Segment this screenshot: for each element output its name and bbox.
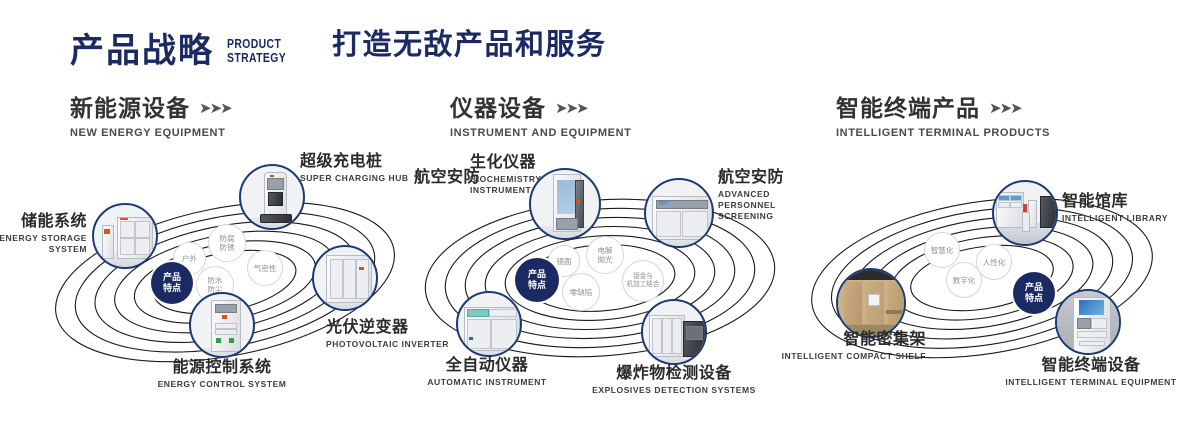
node-label-explosives-detection-systems: 爆炸物检测设备 EXPLOSIVES DETECTION SYSTEMS bbox=[588, 364, 760, 396]
node-label-super-charging-hub: 超级充电桩 SUPER CHARGING HUB bbox=[300, 152, 409, 184]
node-label-biochemistry-instrument: 生化仪器 BIOCHEMISTRY INSTRUMENT bbox=[470, 153, 554, 196]
node-label-cn: 航空安防 bbox=[400, 168, 480, 187]
node-label-cn: 储能系统 bbox=[0, 212, 87, 231]
compact-shelf-icon bbox=[838, 270, 904, 336]
core-line1: 产品 bbox=[163, 272, 181, 283]
section-title-new-energy: 新能源设备 ➤➤➤ NEW ENERGY EQUIPMENT bbox=[70, 97, 231, 139]
node-label-en: ENERGY STORAGE SYSTEM bbox=[0, 233, 87, 255]
core-bubble-product-features: 产品 特点 bbox=[515, 258, 559, 302]
section-title-cn: 仪器设备 ➤➤➤ bbox=[450, 97, 631, 120]
section-title-en: INSTRUMENT AND EQUIPMENT bbox=[450, 127, 631, 139]
node-intelligent-terminal-equipment[interactable] bbox=[1055, 289, 1121, 355]
node-label-en: INTELLIGENT COMPACT SHELF bbox=[780, 351, 926, 362]
diagram-new-energy: 户外 防腐 防锈 防水 防尘 气密性 产品 特点 储能系统 ENERGY STO… bbox=[30, 150, 420, 415]
feature-bubble: 零缺陷 bbox=[562, 273, 600, 311]
node-label-intelligent-compact-shelf: 智能密集架 INTELLIGENT COMPACT SHELF bbox=[780, 330, 926, 362]
chevron-right-icon: ➤➤➤ bbox=[199, 101, 231, 116]
section-title-cn: 智能终端产品 ➤➤➤ bbox=[836, 97, 1050, 120]
feature-bubble: 气密性 bbox=[247, 250, 283, 286]
node-label-cn: 航空安防 bbox=[718, 168, 804, 187]
section-title-intelligent-terminal: 智能终端产品 ➤➤➤ INTELLIGENT TERMINAL PRODUCTS bbox=[836, 97, 1050, 139]
core-line2: 特点 bbox=[163, 283, 181, 294]
energy-storage-cabinet-icon bbox=[94, 205, 156, 267]
page-title-en-line2: STRATEGY bbox=[227, 51, 286, 65]
node-intelligent-library[interactable] bbox=[992, 180, 1058, 246]
node-label-en: BIOCHEMISTRY INSTRUMENT bbox=[470, 174, 554, 196]
node-label-en: INTELLIGENT LIBRARY bbox=[1062, 213, 1168, 224]
node-label-automatic-instrument: 全自动仪器 AUTOMATIC INSTRUMENT bbox=[404, 356, 570, 388]
section-title-cn-text: 新能源设备 bbox=[70, 97, 190, 120]
core-bubble-product-features: 产品 特点 bbox=[1013, 272, 1055, 314]
screening-machine-icon bbox=[646, 180, 712, 246]
node-label-aviation-security: 航空安防 bbox=[400, 168, 480, 187]
node-label-en: AUTOMATIC INSTRUMENT bbox=[404, 377, 570, 388]
node-label-cn: 生化仪器 bbox=[470, 153, 554, 172]
section-title-cn-text: 仪器设备 bbox=[450, 97, 546, 120]
feature-bubble: 智慧化 bbox=[924, 232, 960, 268]
page-subtitle: 打造无敌产品和服务 bbox=[332, 31, 607, 60]
inverter-cabinet-icon bbox=[314, 247, 376, 309]
chevron-right-icon: ➤➤➤ bbox=[555, 101, 587, 116]
core-bubble-product-features: 产品 特点 bbox=[151, 262, 193, 304]
node-explosives-detection-systems[interactable] bbox=[641, 299, 707, 365]
page-title-cn: 产品战略 bbox=[70, 34, 214, 68]
node-label-cn: 智能终端设备 bbox=[996, 356, 1186, 375]
node-label-cn: 爆炸物检测设备 bbox=[588, 364, 760, 383]
core-line2: 特点 bbox=[528, 280, 546, 291]
node-label-en: SUPER CHARGING HUB bbox=[300, 173, 409, 184]
page-header: 产品战略 PRODUCT STRATEGY bbox=[70, 24, 301, 78]
feature-bubble: 钣金与 机加工结合 bbox=[622, 260, 664, 302]
page-title-en-line1: PRODUCT bbox=[227, 37, 286, 51]
automatic-analyzer-icon bbox=[458, 293, 520, 355]
node-label-energy-control-system: 能源控制系统 ENERGY CONTROL SYSTEM bbox=[87, 358, 357, 390]
node-intelligent-compact-shelf[interactable] bbox=[836, 268, 906, 338]
control-cabinet-icon bbox=[191, 294, 253, 356]
section-title-en: NEW ENERGY EQUIPMENT bbox=[70, 127, 231, 139]
node-label-en: ADVANCED PERSONNEL SCREENING bbox=[718, 189, 804, 222]
node-label-en: EXPLOSIVES DETECTION SYSTEMS bbox=[588, 385, 760, 396]
diagram-instrument: 镜面 电解 抛光 零缺陷 钣金与 机加工结合 产品 特点 航空安防 生化仪器 B… bbox=[410, 150, 800, 415]
charging-pile-icon bbox=[241, 166, 303, 228]
core-line1: 产品 bbox=[1025, 282, 1043, 293]
section-title-instrument: 仪器设备 ➤➤➤ INSTRUMENT AND EQUIPMENT bbox=[450, 97, 631, 139]
node-label-en: ENERGY CONTROL SYSTEM bbox=[87, 379, 357, 390]
node-label-energy-storage-system: 储能系统 ENERGY STORAGE SYSTEM bbox=[0, 212, 87, 255]
node-super-charging-hub[interactable] bbox=[239, 164, 305, 230]
section-title-en: INTELLIGENT TERMINAL PRODUCTS bbox=[836, 127, 1050, 139]
node-label-en: INTELLIGENT TERMINAL EQUIPMENT bbox=[996, 377, 1186, 388]
core-line2: 特点 bbox=[1025, 293, 1043, 304]
node-energy-control-system[interactable] bbox=[189, 292, 255, 358]
library-room-icon bbox=[994, 182, 1056, 244]
node-energy-storage-system[interactable] bbox=[92, 203, 158, 269]
node-label-advanced-personnel-screening: 航空安防 ADVANCED PERSONNEL SCREENING bbox=[718, 168, 804, 222]
feature-bubble: 防腐 防锈 bbox=[208, 224, 246, 262]
node-label-cn: 全自动仪器 bbox=[404, 356, 570, 375]
node-advanced-personnel-screening[interactable] bbox=[644, 178, 714, 248]
node-label-cn: 能源控制系统 bbox=[87, 358, 357, 377]
section-title-cn: 新能源设备 ➤➤➤ bbox=[70, 97, 231, 120]
diagram-intelligent-terminal: 智慧化 人性化 数字化 产品 特点 智能馆库 INTELLIGENT LIBRA… bbox=[800, 150, 1190, 415]
node-label-intelligent-terminal-equipment: 智能终端设备 INTELLIGENT TERMINAL EQUIPMENT bbox=[996, 356, 1186, 388]
chevron-right-icon: ➤➤➤ bbox=[989, 101, 1021, 116]
feature-bubble: 数字化 bbox=[946, 262, 982, 298]
explosives-detector-icon bbox=[643, 301, 705, 363]
node-label-intelligent-library: 智能馆库 INTELLIGENT LIBRARY bbox=[1062, 192, 1168, 224]
node-label-cn: 智能密集架 bbox=[780, 330, 926, 349]
node-photovoltaic-inverter[interactable] bbox=[312, 245, 378, 311]
core-line1: 产品 bbox=[528, 269, 546, 280]
node-label-cn: 超级充电桩 bbox=[300, 152, 409, 171]
feature-bubble: 电解 抛光 bbox=[586, 236, 624, 274]
node-label-cn: 智能馆库 bbox=[1062, 192, 1168, 211]
node-automatic-instrument[interactable] bbox=[456, 291, 522, 357]
section-title-cn-text: 智能终端产品 bbox=[836, 97, 980, 120]
self-service-kiosk-icon bbox=[1057, 291, 1119, 353]
page-title-en: PRODUCT STRATEGY bbox=[227, 37, 286, 65]
